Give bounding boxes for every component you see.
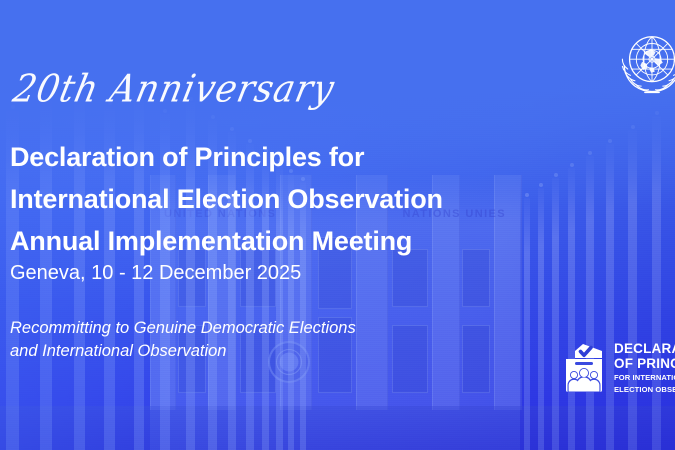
tagline-line-2: and International Observation — [10, 340, 356, 363]
page-title: Declaration of Principles for Internatio… — [10, 136, 443, 262]
tagline-line-1: Recommitting to Genuine Democratic Elect… — [10, 317, 356, 340]
united-nations-emblem-icon — [613, 26, 675, 96]
event-tagline: Recommitting to Genuine Democratic Elect… — [10, 317, 356, 363]
dop-line-3: FOR INTERNATIONAL — [614, 373, 675, 382]
event-banner: UNITED NATIONS NATIONS UNIES — [0, 0, 675, 450]
title-line-1: Declaration of Principles for — [10, 136, 443, 178]
anniversary-eyebrow: 20th Anniversary — [10, 70, 338, 108]
dop-logo-text: DECLARATION OF PRINCIPLES FOR INTERNATIO… — [614, 342, 675, 394]
event-dateline: Geneva, 10 - 12 December 2025 — [10, 259, 301, 287]
dop-line-4: ELECTION OBSERVATION — [614, 385, 675, 394]
dop-logo: DECLARATION OF PRINCIPLES FOR INTERNATIO… — [561, 339, 675, 397]
title-line-3: Annual Implementation Meeting — [10, 220, 443, 262]
dop-line-2: OF PRINCIPLES — [614, 357, 675, 372]
ballot-box-with-voters-icon — [561, 342, 607, 394]
title-line-2: International Election Observation — [10, 178, 443, 220]
dop-line-1: DECLARATION — [614, 342, 675, 357]
